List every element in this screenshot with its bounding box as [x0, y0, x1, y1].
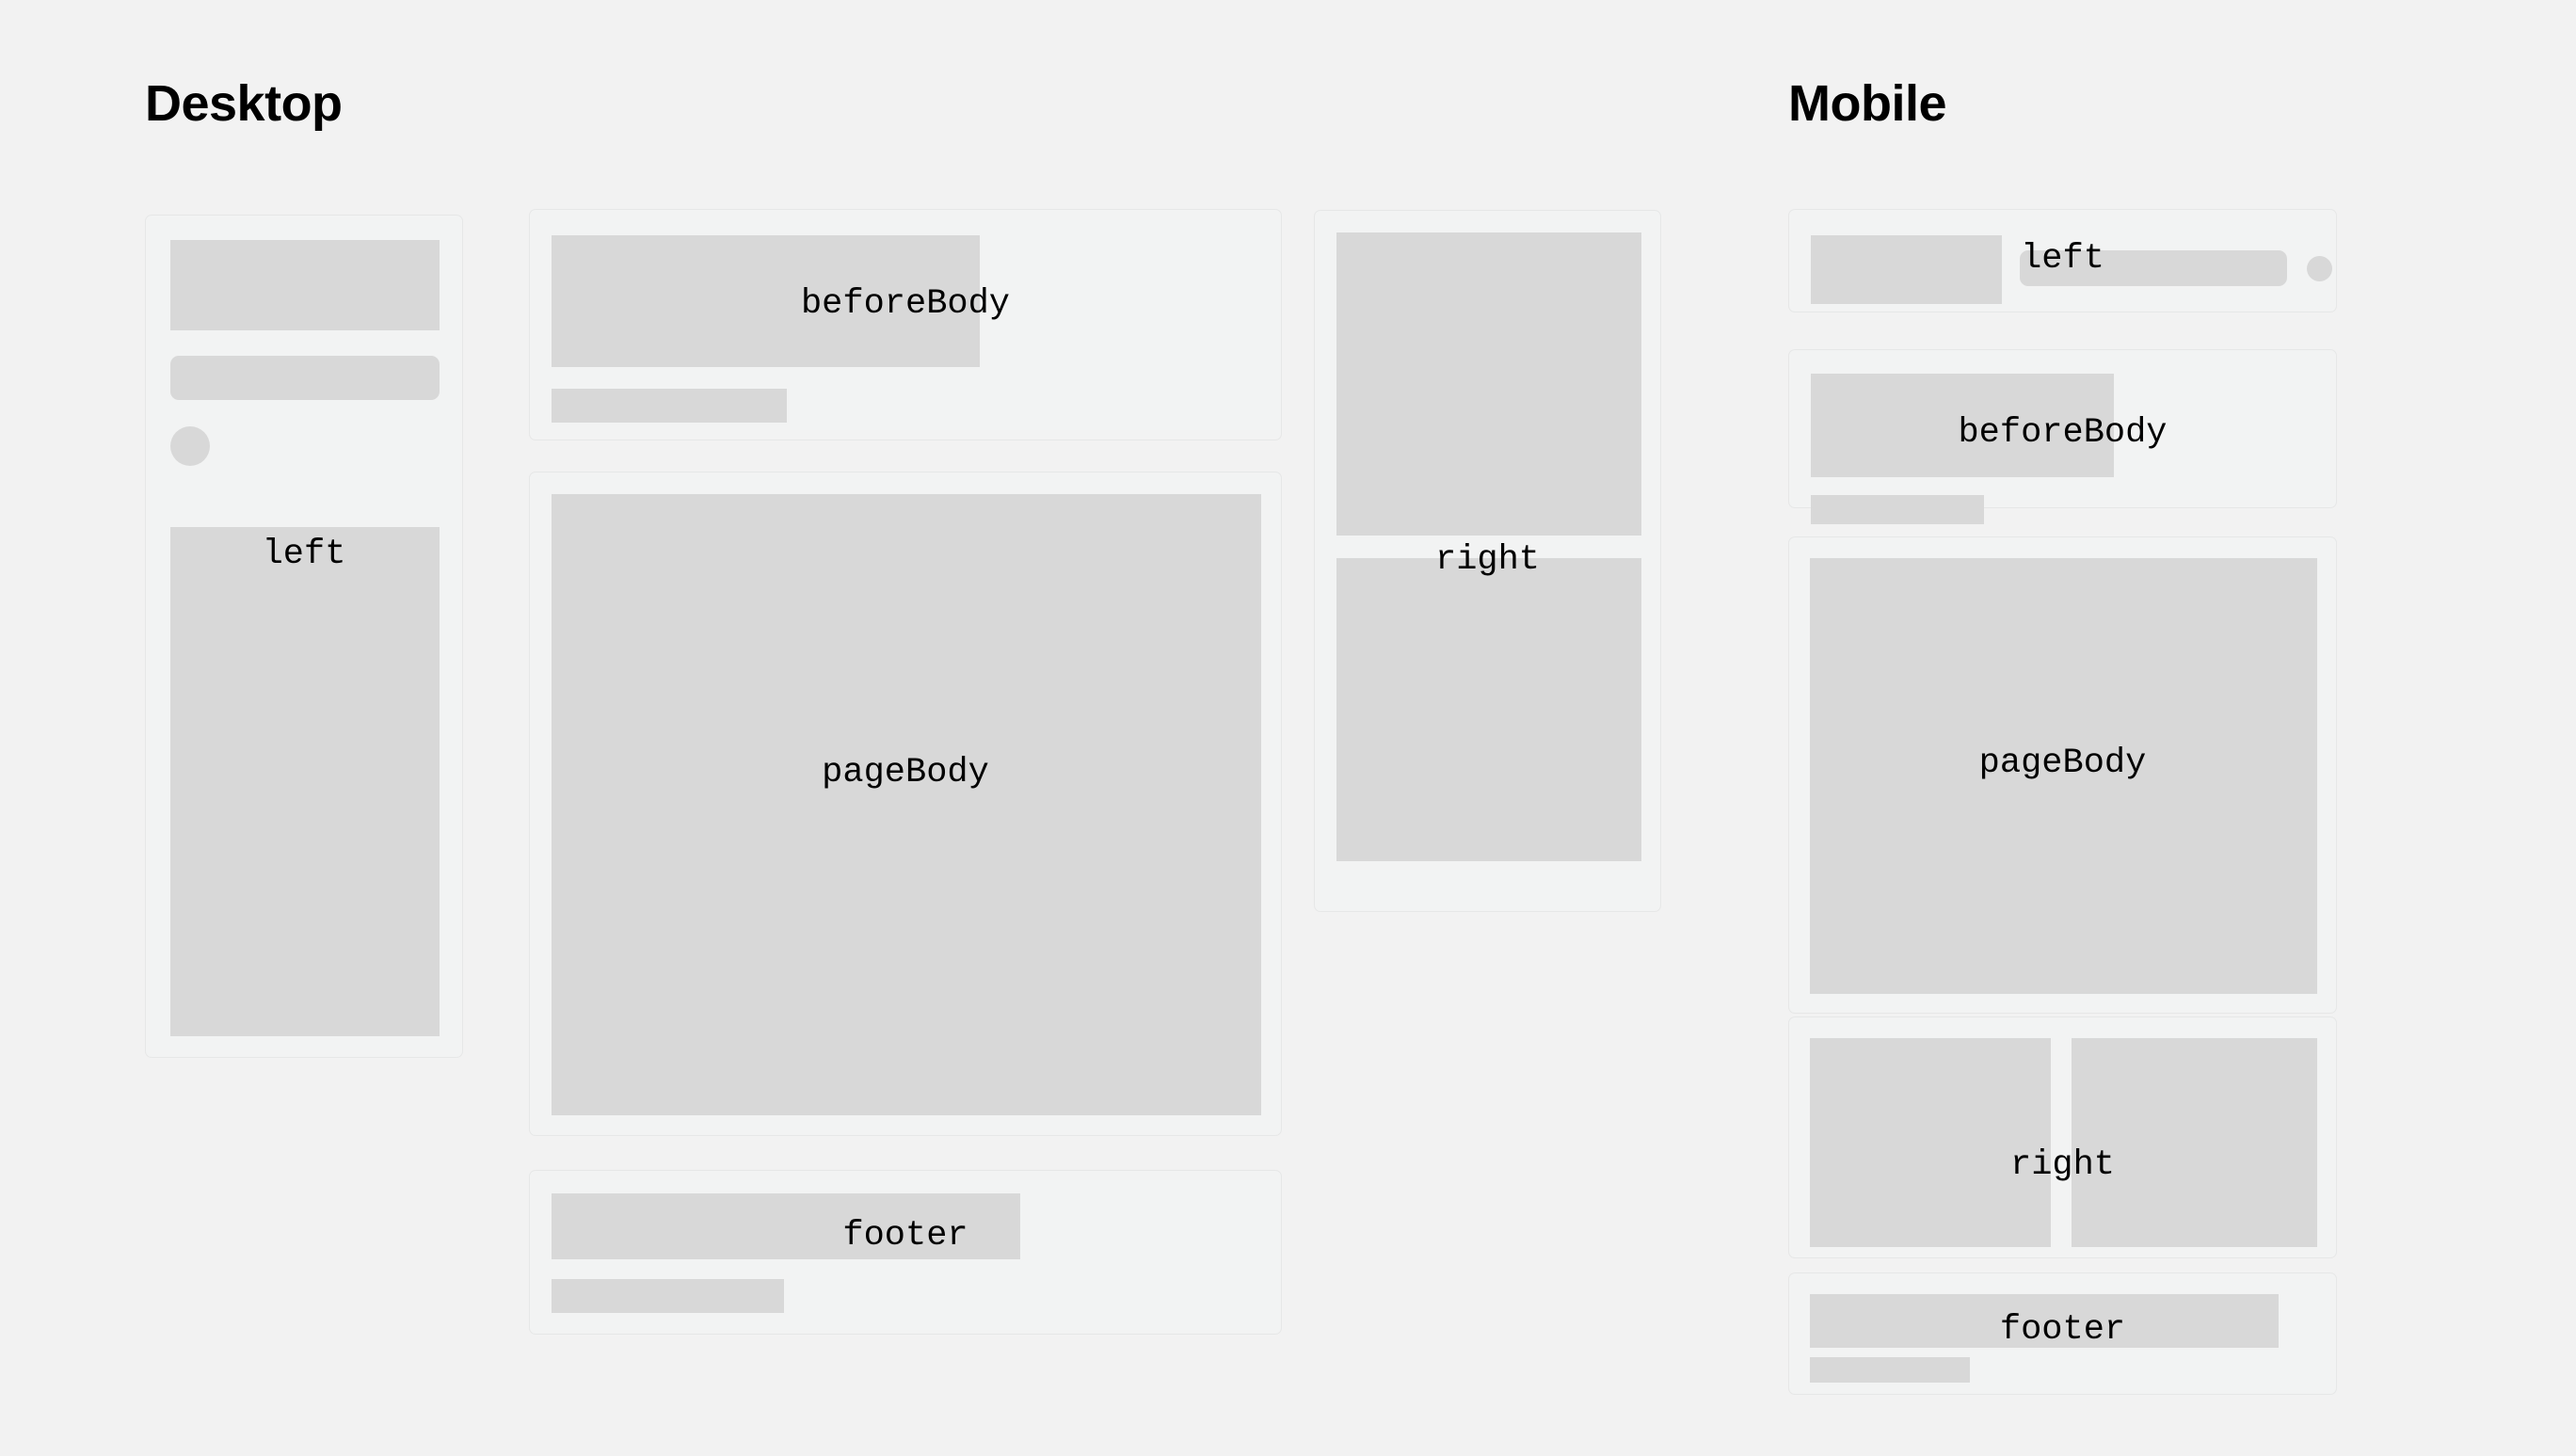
- placeholder-block: [1810, 1294, 2279, 1348]
- mobile-heading: Mobile: [1788, 78, 1946, 129]
- desktop-right-region[interactable]: [1314, 210, 1661, 912]
- placeholder-bar: [552, 389, 787, 423]
- mobile-pagebody-region[interactable]: [1788, 536, 2337, 1014]
- placeholder-block: [1810, 1038, 2051, 1247]
- placeholder-block: [552, 494, 1261, 1115]
- desktop-heading: Desktop: [145, 78, 343, 129]
- placeholder-circle-icon: [2307, 256, 2332, 281]
- placeholder-block: [1810, 558, 2317, 994]
- placeholder-block: [2072, 1038, 2317, 1247]
- placeholder-circle-icon: [170, 426, 210, 466]
- placeholder-bar: [1810, 1357, 1970, 1383]
- placeholder-block: [170, 527, 440, 1036]
- placeholder-bar: [552, 1279, 784, 1313]
- desktop-footer-region[interactable]: [529, 1170, 1282, 1335]
- placeholder-block: [1336, 558, 1641, 861]
- desktop-pagebody-region[interactable]: [529, 472, 1282, 1136]
- placeholder-bar: [170, 356, 440, 400]
- mobile-footer-region[interactable]: [1788, 1272, 2337, 1395]
- desktop-beforebody-region[interactable]: [529, 209, 1282, 440]
- mobile-beforebody-region[interactable]: [1788, 349, 2337, 508]
- placeholder-block: [552, 1193, 1020, 1259]
- placeholder-block: [552, 235, 980, 367]
- placeholder-bar: [1811, 495, 1984, 524]
- wireframe-canvas: Desktop Mobile left beforeBody pageBody …: [0, 0, 2576, 1456]
- mobile-left-region[interactable]: [1788, 209, 2337, 312]
- placeholder-bar: [2020, 250, 2287, 286]
- placeholder-block: [1336, 232, 1641, 536]
- mobile-right-region[interactable]: [1788, 1016, 2337, 1258]
- placeholder-block: [1811, 374, 2114, 477]
- placeholder-block: [1811, 235, 2002, 304]
- desktop-left-region[interactable]: [145, 215, 463, 1058]
- placeholder-block: [170, 240, 440, 330]
